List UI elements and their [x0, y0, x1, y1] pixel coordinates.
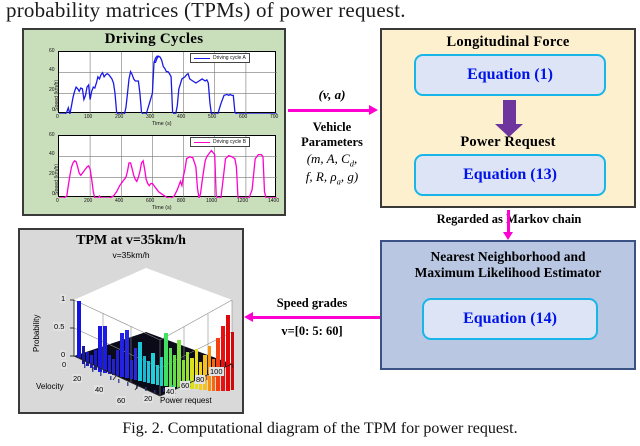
tpm-title: TPM at v=35km/h [20, 233, 242, 249]
tpm-zlabel: Probability [32, 315, 41, 352]
cycle-b-legend-label: Driving cycle B [213, 139, 246, 145]
cycle-a-ytick-60: 60 [49, 48, 55, 54]
estimator-heading: Nearest Neighborhood and Maximum Likelih… [382, 249, 634, 282]
tpm-xtick-40: 40 [94, 385, 104, 394]
speed-grades-value: v=[0: 5: 60] [244, 324, 380, 339]
speed-grades-connector: Speed grades v=[0: 5: 60] [244, 296, 380, 352]
cycle-a-xtick-500: 500 [208, 114, 216, 120]
estimator-heading-line2: Maximum Likelihood Estimator [382, 265, 634, 281]
params-line2-end: , g) [341, 169, 358, 184]
va-arrow [288, 109, 370, 112]
cycle-a-ytick-20: 20 [49, 87, 55, 93]
equation-1-box[interactable]: Equation (1) [414, 54, 606, 96]
params-line1-text: (m, A, C [307, 151, 350, 166]
vehicle-parameters-line2: Parameters [288, 135, 376, 150]
cycle-a-legend: Driving cycle A [190, 53, 250, 63]
estimator-panel: Nearest Neighborhood and Maximum Likelih… [380, 240, 636, 370]
cycle-a-xtick-0: 0 [56, 114, 59, 120]
cycle-b-ytick-0: 0 [52, 191, 55, 197]
tpm-ytick-40: 40 [165, 387, 175, 396]
figure-caption: Fig. 2. Computational diagram of the TPM… [0, 420, 640, 438]
longitudinal-force-panel: Longitudinal Force Equation (1) Power Re… [380, 28, 636, 208]
speed-grades-arrow [252, 316, 380, 319]
cycle-b-xtick-1200: 1200 [237, 198, 248, 204]
cycle-a-xlabel: Time (s) [152, 121, 172, 127]
cycle-b-xtick-200: 200 [84, 198, 92, 204]
vehicle-parameters-line1: Vehicle [288, 120, 376, 135]
cycle-b-xtick-1000: 1000 [206, 198, 217, 204]
tpm-ylabel: Power request [160, 396, 212, 405]
vehicle-parameters-symbols-1: (m, A, Cd, [288, 151, 376, 169]
cycle-a-legend-swatch [194, 58, 210, 59]
cycle-a-xtick-700: 700 [270, 114, 278, 120]
tpm-xtick-60: 60 [116, 396, 126, 405]
power-request-heading: Power Request [382, 134, 634, 151]
cycle-b-legend-swatch [194, 142, 210, 143]
cycle-a-xtick-400: 400 [177, 114, 185, 120]
cycle-b-legend: Driving cycle B [190, 137, 250, 147]
force-to-power-arrow [503, 100, 516, 124]
cycle-a-legend-label: Driving cycle A [213, 55, 246, 61]
cycle-a-ytick-0: 0 [52, 107, 55, 113]
cycle-b-ytick-60: 60 [49, 132, 55, 138]
params-line1-end: , [354, 151, 357, 166]
estimator-heading-line1: Nearest Neighborhood and [382, 249, 634, 265]
equation-14-box[interactable]: Equation (14) [422, 298, 598, 340]
cycle-b-xtick-600: 600 [146, 198, 154, 204]
page-body-text: probability matrices (TPMs) of power req… [6, 0, 406, 23]
tpm-ztick-1: 1 [60, 294, 66, 303]
driving-cycles-panel: Driving Cycles Speed (km/h) 60 40 20 0 0… [22, 28, 286, 216]
cycle-b-xlabel: Time (s) [152, 205, 172, 211]
tpm-panel: TPM at v=35km/h v=35km/h [18, 228, 244, 414]
longitudinal-force-heading: Longitudinal Force [382, 34, 634, 51]
va-arrow-label: (v, a) [288, 87, 376, 103]
cycle-b-xtick-1400: 1400 [268, 198, 279, 204]
cycle-a-xtick-600: 600 [239, 114, 247, 120]
cycle-b-ytick-20: 20 [49, 171, 55, 177]
tpm-xtick-0: 0 [61, 360, 67, 369]
tpm-xtick-20: 20 [72, 374, 82, 383]
cycle-b-xtick-400: 400 [115, 198, 123, 204]
cycle-b-xtick-800: 800 [177, 198, 185, 204]
cycle-a-xtick-100: 100 [84, 114, 92, 120]
tpm-ytick-100: 100 [209, 367, 224, 376]
speed-grades-label: Speed grades [244, 296, 380, 311]
tpm-subtitle: v=35km/h [20, 250, 242, 260]
tpm-ytick-20: 20 [143, 394, 153, 403]
markov-chain-arrow [507, 210, 510, 232]
vehicle-parameters-connector: (v, a) Vehicle Parameters (m, A, Cd, f, … [288, 32, 376, 212]
tpm-ytick-80: 80 [195, 375, 205, 384]
tpm-ztick-05: 0.5 [53, 322, 65, 331]
cycle-b-xtick-0: 0 [56, 198, 59, 204]
cycle-a-xtick-200: 200 [115, 114, 123, 120]
cycle-a-xtick-300: 300 [146, 114, 154, 120]
params-line2-text: f, R, ρ [306, 169, 337, 184]
cycle-b-ytick-40: 40 [49, 151, 55, 157]
cycle-a-ytick-40: 40 [49, 67, 55, 73]
tpm-xlabel: Velocity [36, 382, 64, 391]
driving-cycles-title: Driving Cycles [24, 31, 284, 48]
tpm-ztick-0: 0 [60, 350, 66, 359]
equation-13-box[interactable]: Equation (13) [414, 154, 606, 196]
tpm-ytick-60: 60 [180, 381, 190, 390]
vehicle-parameters-symbols-2: f, R, ρa, g) [288, 169, 376, 187]
